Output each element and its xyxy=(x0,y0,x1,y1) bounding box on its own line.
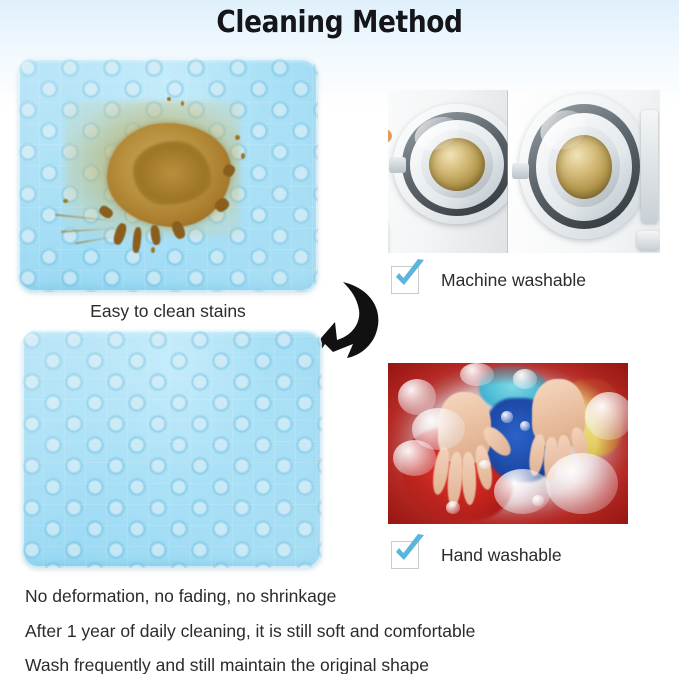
feature-machine-washable: Machine washable xyxy=(391,266,586,294)
door-latch-left xyxy=(389,157,407,173)
page-title: Cleaning Method xyxy=(41,5,639,40)
feature-hand-washable: Hand washable xyxy=(391,541,562,569)
check-icon xyxy=(391,533,425,567)
clean-cooling-mat xyxy=(22,330,322,568)
mat-caption: Easy to clean stains xyxy=(18,301,318,322)
soap-bubble xyxy=(460,363,494,386)
bottom-claims: No deformation, no fading, no shrinkage … xyxy=(25,588,645,674)
checkbox-machine-washable[interactable] xyxy=(391,266,419,294)
door-latch-right xyxy=(512,163,530,179)
washer-door-right xyxy=(519,94,648,240)
washing-machines-photo xyxy=(388,90,660,253)
soap-bubble xyxy=(513,369,537,388)
mat-sheen xyxy=(18,58,318,292)
laundry-bag xyxy=(388,212,389,253)
washer-door-left xyxy=(393,104,520,224)
soap-bubble-small xyxy=(520,421,530,431)
feature-label-machine-washable: Machine washable xyxy=(441,270,586,291)
feature-label-hand-washable: Hand washable xyxy=(441,545,562,566)
claim-line: After 1 year of daily cleaning, it is st… xyxy=(25,623,645,641)
stained-cooling-mat xyxy=(18,58,318,292)
door-handle-right xyxy=(641,110,659,223)
checkbox-hand-washable[interactable] xyxy=(391,541,419,569)
machine-sticker-orange xyxy=(388,128,392,144)
claim-line: No deformation, no fading, no shrinkage xyxy=(25,588,645,606)
washing-machine-right xyxy=(508,90,660,253)
soap-bubble xyxy=(393,440,436,475)
cleaning-method-infographic: Cleaning Method Easy to clean stains xyxy=(0,0,679,674)
soap-bubble-small xyxy=(501,411,513,422)
washing-machine-left xyxy=(388,90,508,253)
soap-bubble xyxy=(585,392,628,440)
hand-washing-photo xyxy=(388,363,628,524)
door-hinge-right xyxy=(637,231,660,249)
mat-sheen xyxy=(22,330,322,568)
check-icon xyxy=(391,258,425,292)
claim-line: Wash frequently and still maintain the o… xyxy=(25,657,645,674)
